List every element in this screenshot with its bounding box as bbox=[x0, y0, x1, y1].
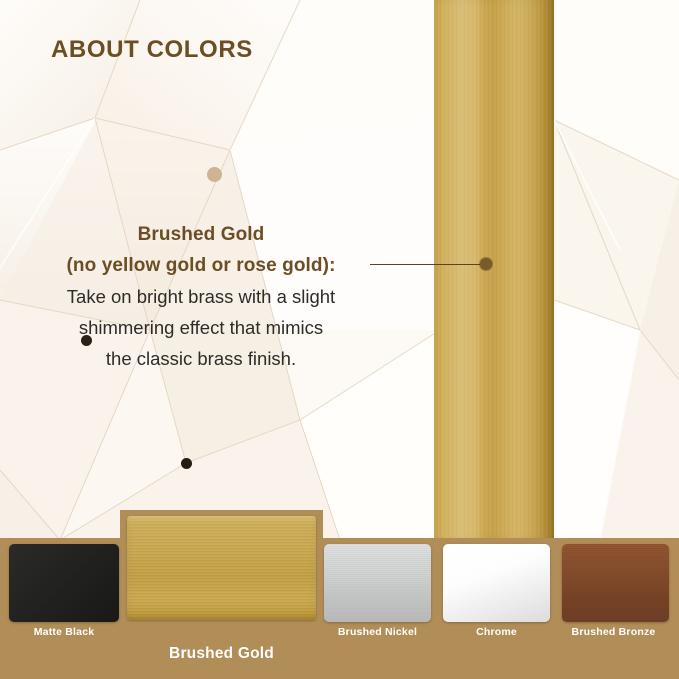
tan-dot bbox=[208, 168, 221, 181]
swatch-label-chrome: Chrome bbox=[443, 626, 550, 638]
callout-leader-dot bbox=[480, 258, 492, 270]
swatch-label-brushed-gold: Brushed Gold bbox=[120, 645, 323, 663]
swatch-label-brushed-nickel: Brushed Nickel bbox=[312, 626, 443, 638]
callout-description-line-1: Take on bright brass with a slight bbox=[36, 281, 366, 312]
swatch-tile-matte-black bbox=[9, 544, 119, 622]
brushed-gold-product-bar bbox=[434, 0, 554, 541]
callout-description-line-2: shimmering effect that mimics bbox=[36, 312, 366, 343]
swatch-tile-brushed-nickel bbox=[324, 544, 431, 622]
swatch-brushed-gold[interactable] bbox=[127, 516, 316, 620]
callout-heading-line-2: (no yellow gold or rose gold): bbox=[36, 250, 366, 281]
swatch-brushed-nickel[interactable] bbox=[324, 544, 431, 622]
swatch-matte-black[interactable] bbox=[9, 544, 119, 622]
swatch-tile-chrome bbox=[443, 544, 550, 622]
swatch-label-brushed-bronze: Brushed Bronze bbox=[548, 626, 679, 638]
gold-bar-sheen bbox=[434, 0, 554, 541]
callout-heading-line-1: Brushed Gold bbox=[36, 219, 366, 250]
callout-description-line-3: the classic brass finish. bbox=[36, 343, 366, 374]
page-title: ABOUT COLORS bbox=[51, 36, 253, 64]
swatch-brushed-bronze[interactable] bbox=[562, 544, 669, 622]
swatch-tile-brushed-bronze bbox=[562, 544, 669, 622]
dark-dot-2 bbox=[181, 458, 192, 469]
swatch-tile-brushed-gold bbox=[127, 516, 316, 620]
callout-text-block: Brushed Gold (no yellow gold or rose gol… bbox=[36, 219, 366, 374]
swatch-label-matte-black: Matte Black bbox=[0, 626, 128, 638]
swatch-chrome[interactable] bbox=[443, 544, 550, 622]
callout-leader-line bbox=[370, 264, 486, 265]
product-color-infographic: ABOUT COLORS Brushed Gold (no yellow gol… bbox=[0, 0, 679, 679]
